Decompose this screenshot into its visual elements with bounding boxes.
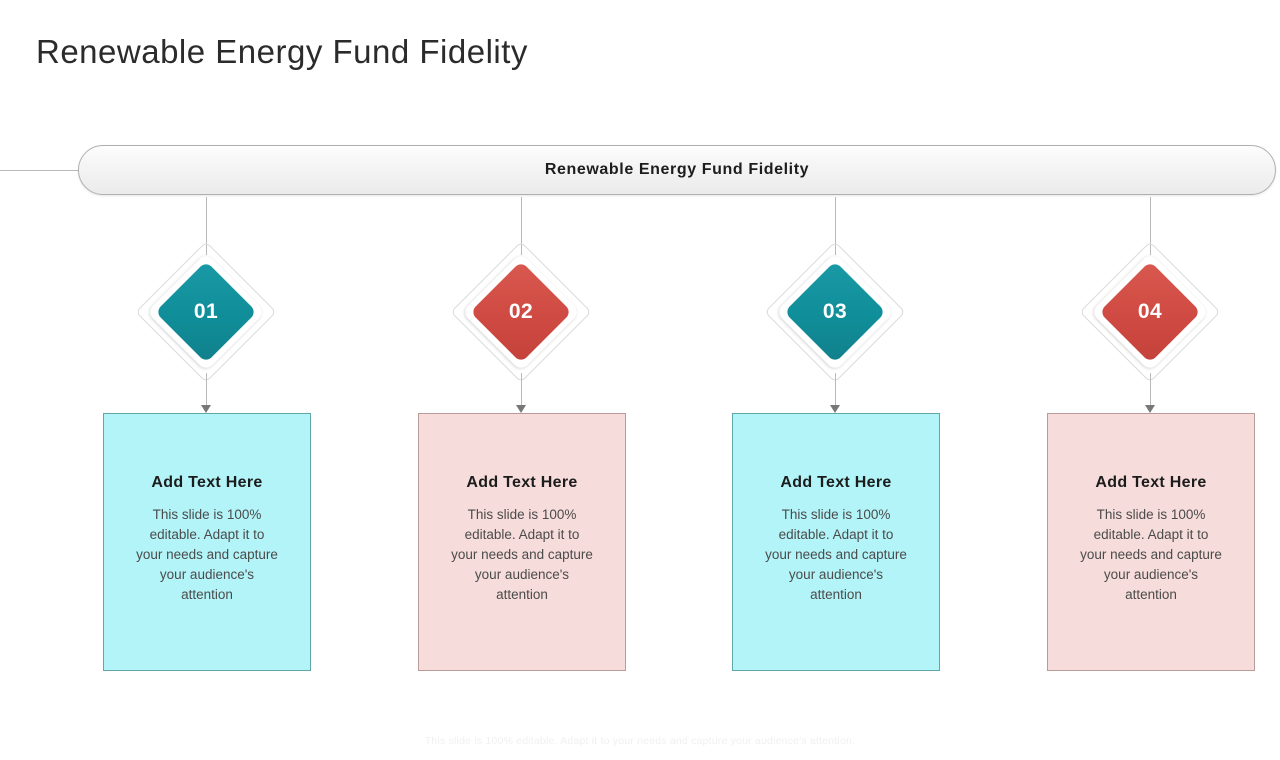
step-number-label: 01 — [145, 251, 267, 373]
page-title: Renewable Energy Fund Fidelity — [36, 33, 528, 71]
connector-line-bottom — [1150, 373, 1151, 409]
banner-label: Renewable Energy Fund Fidelity — [545, 161, 809, 179]
card-heading: Add Text Here — [1062, 474, 1240, 492]
arrow-down-icon — [1145, 405, 1155, 413]
step-badge-02[interactable]: 02 — [460, 251, 582, 373]
banner-tail-line — [0, 170, 86, 171]
arrow-down-icon — [516, 405, 526, 413]
card-heading: Add Text Here — [118, 474, 296, 492]
card-heading: Add Text Here — [747, 474, 925, 492]
card-heading: Add Text Here — [433, 474, 611, 492]
step-badge-01[interactable]: 01 — [145, 251, 267, 373]
card-body-text: This slide is 100% editable. Adapt it to… — [1062, 505, 1240, 605]
step-card-04[interactable]: Add Text Here This slide is 100% editabl… — [1047, 413, 1255, 671]
card-body-text: This slide is 100% editable. Adapt it to… — [433, 505, 611, 605]
arrow-down-icon — [830, 405, 840, 413]
card-body-text: This slide is 100% editable. Adapt it to… — [747, 505, 925, 605]
step-card-02[interactable]: Add Text Here This slide is 100% editabl… — [418, 413, 626, 671]
step-badge-03[interactable]: 03 — [774, 251, 896, 373]
footer-note: This slide is 100% editable. Adapt it to… — [0, 735, 1280, 747]
connector-line-bottom — [521, 373, 522, 409]
step-card-03[interactable]: Add Text Here This slide is 100% editabl… — [732, 413, 940, 671]
card-body-text: This slide is 100% editable. Adapt it to… — [118, 505, 296, 605]
banner-pill[interactable]: Renewable Energy Fund Fidelity — [78, 145, 1276, 195]
step-number-label: 04 — [1089, 251, 1211, 373]
connector-line-bottom — [206, 373, 207, 409]
step-number-label: 02 — [460, 251, 582, 373]
step-badge-04[interactable]: 04 — [1089, 251, 1211, 373]
arrow-down-icon — [201, 405, 211, 413]
header-banner: Renewable Energy Fund Fidelity — [0, 145, 1280, 197]
step-number-label: 03 — [774, 251, 896, 373]
step-card-01[interactable]: Add Text Here This slide is 100% editabl… — [103, 413, 311, 671]
connector-line-bottom — [835, 373, 836, 409]
